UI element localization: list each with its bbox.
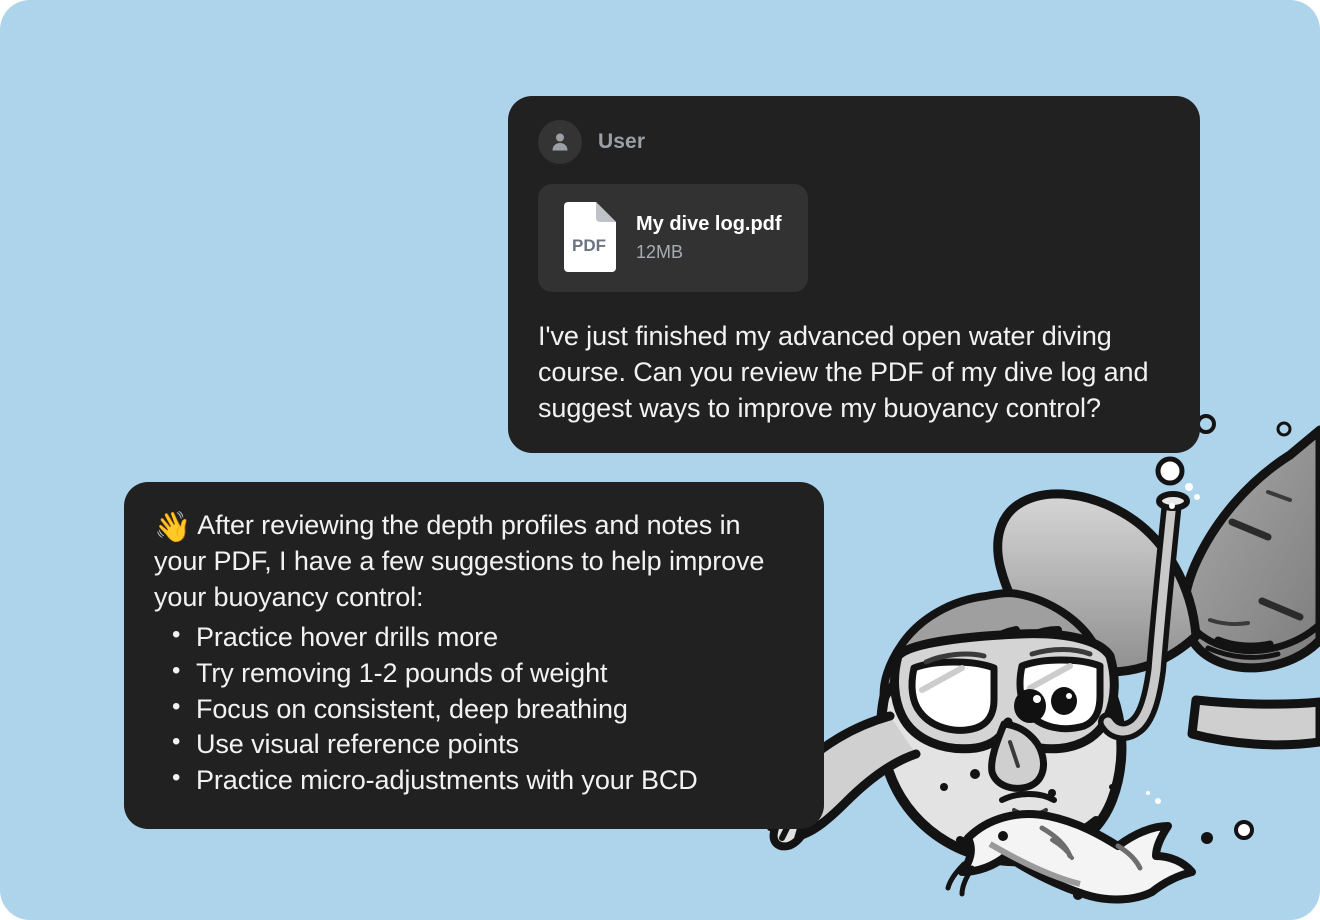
diver-leg-group [1184, 430, 1320, 668]
sender-name: User [598, 130, 645, 154]
conversation-canvas: User PDF My dive log.pdf 12MB I've just … [0, 0, 1320, 920]
suggestion-list: Practice hover drills more Try removing … [154, 620, 794, 800]
attachment-meta: My dive log.pdf 12MB [636, 213, 782, 263]
attachment-file-size: 12MB [636, 242, 782, 263]
assistant-intro-text: 👋After reviewing the depth profiles and … [154, 508, 794, 616]
user-message-text: I've just finished my advanced open wate… [538, 318, 1170, 427]
user-message-header: User [538, 120, 1170, 164]
attachment-file-name: My dive log.pdf [636, 213, 782, 236]
pdf-file-icon: PDF [558, 202, 616, 274]
list-item: Use visual reference points [154, 727, 794, 763]
assistant-message-bubble: 👋After reviewing the depth profiles and … [124, 482, 824, 829]
list-item: Try removing 1-2 pounds of weight [154, 656, 794, 692]
list-item: Focus on consistent, deep breathing [154, 692, 794, 728]
list-item: Practice hover drills more [154, 620, 794, 656]
fish-illustration [948, 814, 1192, 899]
diver-torso-group [998, 494, 1320, 745]
bubbles-group [940, 389, 1290, 900]
person-icon [548, 130, 572, 154]
snorkel-icon [1108, 494, 1187, 731]
svg-text:PDF: PDF [572, 236, 606, 255]
waving-hand-emoji: 👋 [154, 511, 191, 544]
diver-head-group [881, 593, 1121, 861]
attachment-card[interactable]: PDF My dive log.pdf 12MB [538, 184, 808, 292]
avatar [538, 120, 582, 164]
assistant-intro-copy: After reviewing the depth profiles and n… [154, 510, 764, 612]
user-message-bubble: User PDF My dive log.pdf 12MB I've just … [508, 96, 1200, 453]
list-item: Practice micro-adjustments with your BCD [154, 763, 794, 799]
